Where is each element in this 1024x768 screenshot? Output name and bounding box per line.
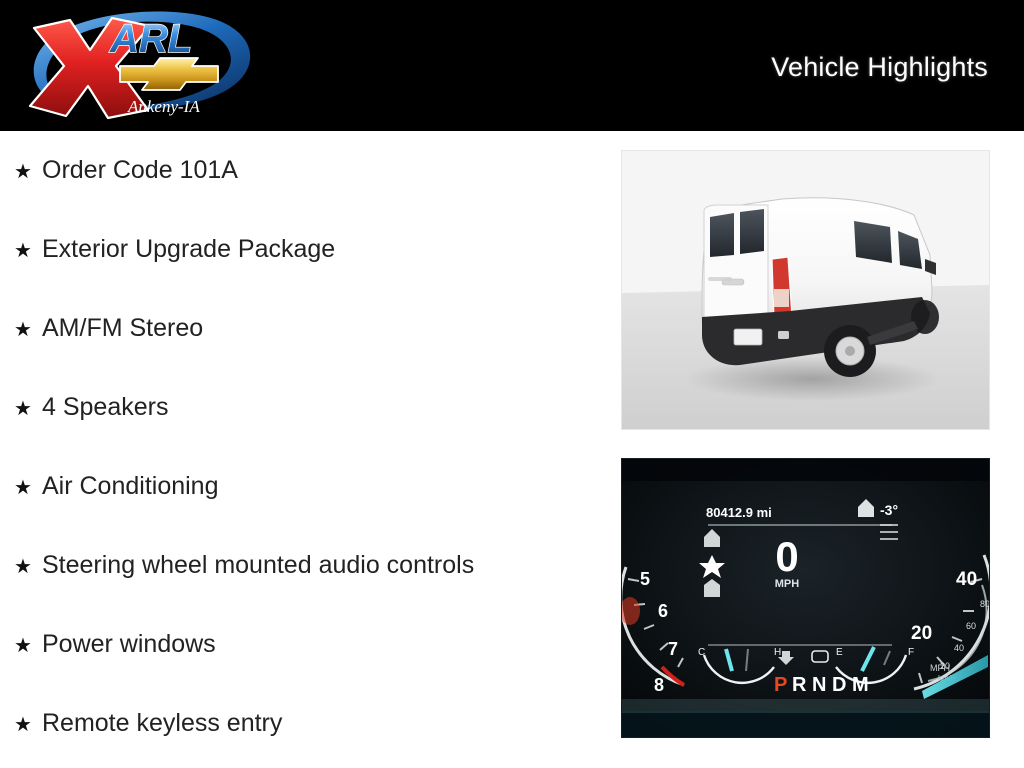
speedo-kmh-80: 80 [980, 599, 989, 609]
star-bullet-icon: ★ [14, 557, 42, 577]
license-plate [734, 329, 762, 345]
coolant-high-label: H [774, 647, 781, 658]
star-bullet-icon: ★ [14, 636, 42, 656]
van-shadow [684, 357, 940, 401]
page-title: Vehicle Highlights [771, 52, 988, 83]
fuel-high-label: F [908, 647, 914, 658]
tach-tick-8: 8 [654, 675, 664, 695]
instrument-cluster-photo[interactable]: 5 6 7 8 40 20 MPH [621, 458, 990, 738]
highlight-label: Air Conditioning [42, 473, 219, 499]
van-illustration [622, 151, 989, 429]
star-bullet-icon: ★ [14, 162, 42, 182]
speedo-tick-40: 40 [956, 569, 977, 590]
list-item: ★ Power windows [14, 631, 216, 657]
dealer-logo: ARL Ankeny-IA [16, 6, 266, 126]
gear-position-m: M [852, 674, 869, 696]
highlight-label: 4 Speakers [42, 394, 168, 420]
dealer-logo-graphic: ARL Ankeny-IA [16, 6, 266, 126]
gear-position-p: P [774, 674, 787, 696]
list-item: ★ AM/FM Stereo [14, 315, 203, 341]
chevrolet-bowtie-icon [120, 58, 218, 90]
list-item: ★ 4 Speakers [14, 394, 168, 420]
highlight-label: Steering wheel mounted audio controls [42, 552, 474, 578]
vehicle-exterior-photo[interactable] [621, 150, 990, 430]
speedo-kmh-20: 20 [940, 661, 950, 671]
tach-tick-5: 5 [640, 569, 650, 589]
star-bullet-icon: ★ [14, 715, 42, 735]
gear-position-d: D [832, 674, 846, 696]
side-window [854, 221, 892, 263]
tach-tick-7: 7 [668, 639, 678, 659]
highlight-label: Remote keyless entry [42, 710, 282, 736]
list-item: ★ Air Conditioning [14, 473, 219, 499]
star-bullet-icon: ★ [14, 320, 42, 340]
star-bullet-icon: ★ [14, 241, 42, 261]
cluster-illustration: 5 6 7 8 40 20 MPH [622, 459, 989, 737]
logo-location-text: Ankeny-IA [127, 97, 200, 116]
gear-position-n: N [812, 674, 826, 696]
rear-window-left [710, 213, 734, 257]
highlight-label: Exterior Upgrade Package [42, 236, 335, 262]
fuel-low-label: E [836, 647, 843, 658]
odometer-value: 80412.9 mi [706, 505, 772, 520]
digital-speed-value: 0 [775, 533, 798, 580]
outside-temp-value: -3° [880, 502, 898, 518]
list-item: ★ Order Code 101A [14, 157, 238, 183]
speedo-kmh-60: 60 [966, 621, 976, 631]
list-item: ★ Remote keyless entry [14, 710, 282, 736]
logo-brand-text: ARL [109, 17, 192, 61]
list-item: ★ Steering wheel mounted audio controls [14, 552, 474, 578]
vehicle-highlights-list: ★ Order Code 101A ★ Exterior Upgrade Pac… [0, 131, 610, 768]
coolant-low-label: C [698, 647, 705, 658]
speedo-kmh-40: 40 [954, 643, 964, 653]
highlight-label: Order Code 101A [42, 157, 238, 183]
speedo-tick-20: 20 [911, 623, 932, 644]
tach-tick-6: 6 [658, 601, 668, 621]
list-item: ★ Exterior Upgrade Package [14, 236, 335, 262]
highlight-label: Power windows [42, 631, 216, 657]
digital-speed-units: MPH [775, 578, 800, 590]
highlight-label: AM/FM Stereo [42, 315, 203, 341]
media-column: 5 6 7 8 40 20 MPH [621, 150, 990, 738]
rear-wheel [824, 325, 876, 377]
gear-position-r: R [792, 674, 807, 696]
rear-window-right [740, 209, 764, 254]
star-bullet-icon: ★ [14, 478, 42, 498]
page-header: ARL Ankeny-IA Vehicle Highlights [0, 0, 1024, 131]
star-bullet-icon: ★ [14, 399, 42, 419]
